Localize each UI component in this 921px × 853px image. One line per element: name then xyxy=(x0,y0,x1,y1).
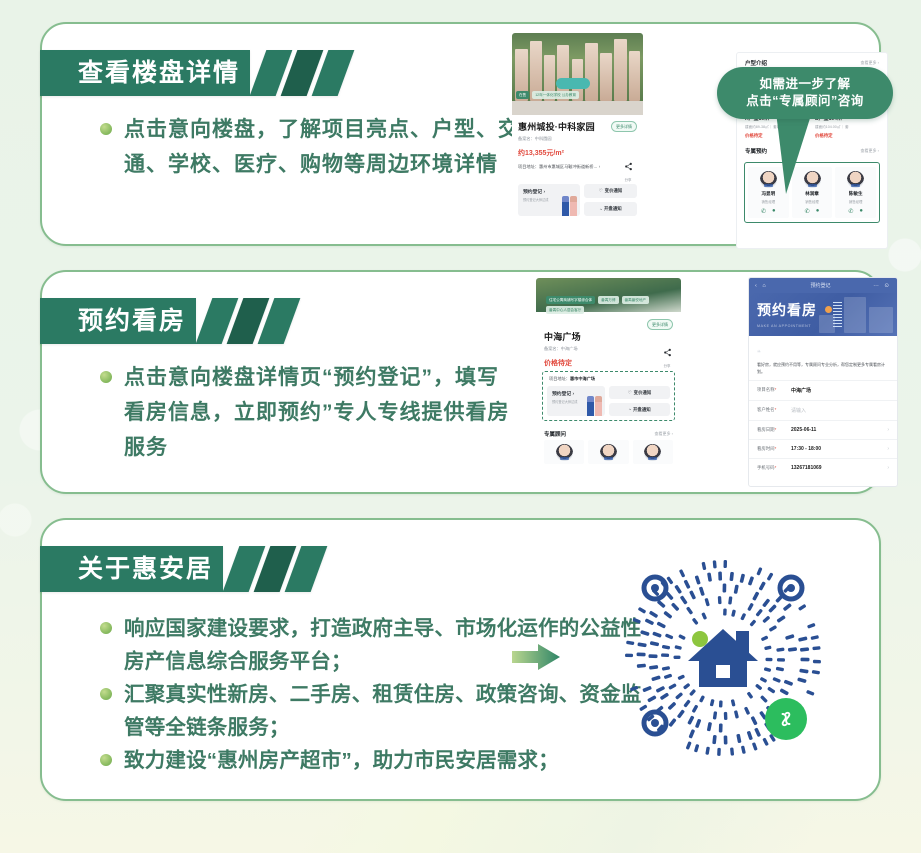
floorplan-price: 价格待定 xyxy=(815,133,879,139)
share-label: 分享 xyxy=(662,363,672,368)
advisor-section-header: 专属顾问 查看更多 › xyxy=(536,421,681,440)
mini-program-icon xyxy=(774,707,798,731)
card-banner: 查看楼盘详情 xyxy=(40,50,346,96)
quote-text: 看好房，就应预约不用等，专属顾问专业分析，帮您定制更多专属看房计划。 xyxy=(757,362,889,376)
banner-body: 查看楼盘详情 xyxy=(40,50,250,96)
list-item[interactable] xyxy=(544,440,584,464)
clock-icon: ◔ xyxy=(628,407,631,412)
card-book-viewing: 预约看房 点击意向楼盘详情页“预约登记”，填写看房信息，立即预约”专人专线提供看… xyxy=(40,270,881,494)
bullet-text: 点击意向楼盘详情页“预约登记”，填写看房信息，立即预约”专人专线提供看房服务 xyxy=(124,360,520,465)
list-item: 点击意向楼盘，了解项目亮点、户型、交通、学校、医疗、购物等周边环境详情 xyxy=(100,112,520,182)
advisor-name: 冯显明 xyxy=(761,191,775,197)
field-phone-number[interactable]: 手机号码* 13267181069 › xyxy=(749,458,897,477)
hero-dot-accent xyxy=(825,306,832,313)
listing-price: 约13,355元/m² xyxy=(518,148,637,158)
advisor-role: 销售经理 xyxy=(762,199,776,204)
section-more-link[interactable]: 查看更多 › xyxy=(655,431,673,437)
appointment-register-button[interactable]: 预约登记 › 预约登记大师达成 xyxy=(547,386,605,416)
bullet-dot-icon xyxy=(100,371,112,383)
listing-price: 价格待定 xyxy=(544,358,673,368)
section-title: 户型介绍 xyxy=(745,59,767,67)
callout-line-2: 点击“专属顾问”咨询 xyxy=(746,93,864,110)
menu-capsule-icon[interactable]: ⋯ ⊙ xyxy=(873,283,891,289)
listing-tag-row: 住宅公寓商铺写字楼综合体 番禺万博 番禺番悦地产 番禺中心人居会客厅 xyxy=(546,296,672,316)
avatar xyxy=(760,171,777,188)
listing-screenshot: 在售 12年一体化学校 公办教育 惠州城投·中科家园 备案名：中科園园 约13,… xyxy=(512,33,643,239)
card-view-property-details: 查看楼盘详情 点击意向楼盘，了解项目亮点、户型、交通、学校、医疗、购物等周边环境… xyxy=(40,22,881,246)
field-value: 中海广场 xyxy=(791,387,889,394)
feature-badge: 番禺中心人居会客厅 xyxy=(546,306,584,314)
share-button[interactable]: 分享 xyxy=(623,158,633,182)
appointment-register-button[interactable]: 预约登记 › 预约登记大师达成 xyxy=(518,184,580,216)
app-nav-bar: ‹ ⌂ 预约登记 ⋯ ⊙ xyxy=(749,278,897,293)
share-icon xyxy=(663,348,672,357)
phone-icon[interactable]: ✆ xyxy=(848,208,853,215)
advisor-role: 销售经理 xyxy=(805,199,819,204)
opening-notify-button[interactable]: ◔ 开盘通知 xyxy=(584,202,637,216)
callout-pointer xyxy=(776,112,812,194)
advisor-role: 销售经理 xyxy=(849,199,863,204)
nav-title: 预约登记 xyxy=(811,282,831,289)
flow-arrow-icon xyxy=(510,641,562,673)
listing-action-row: 预约登记 › 预约登记大师达成 ♡ 变价通知 ◔ 开盘通知 xyxy=(512,184,643,216)
listing-hero-photo: 在售 12年一体化学校 公办教育 xyxy=(512,33,643,115)
page-root: 查看楼盘详情 点击意向楼盘，了解项目亮点、户型、交通、学校、医疗、购物等周边环境… xyxy=(0,0,921,853)
share-button[interactable]: 分享 xyxy=(662,344,672,368)
status-badge: 在售 xyxy=(516,91,529,99)
clock-icon: ◔ xyxy=(599,207,602,212)
bullet-text: 致力建设“惠州房产超市”，助力市民安居需求； xyxy=(124,744,559,777)
price-change-notify-button[interactable]: ♡ 变价通知 xyxy=(584,184,637,198)
phone-icon[interactable]: ✆ xyxy=(761,208,766,215)
advisor-actions: ✆● xyxy=(761,208,776,215)
more-details-badge[interactable]: 更多详情 xyxy=(611,121,637,132)
advisor-name: 陈敏生 xyxy=(849,191,863,197)
advisor-actions: ✆● xyxy=(805,208,820,215)
avatar xyxy=(556,444,573,461)
chevron-right-icon: › xyxy=(887,427,889,433)
card-banner: 预约看房 xyxy=(40,298,292,344)
field-value: 13267181069 xyxy=(791,465,887,471)
avatar xyxy=(644,444,661,461)
back-home-icon[interactable]: ‹ ⌂ xyxy=(755,283,768,289)
listing-title: 中海广场 xyxy=(544,330,673,343)
listing-alias: 备案名：中科園园 xyxy=(518,136,637,142)
feature-badge: 番禺万博 xyxy=(598,296,618,304)
chat-icon[interactable]: ● xyxy=(816,208,820,215)
chevron-right-icon: › xyxy=(887,446,889,452)
hero-tower-graphic xyxy=(833,302,842,328)
list-item[interactable] xyxy=(588,440,628,464)
listing-address: 项目地址：惠市中海广场 xyxy=(549,376,670,382)
bullet-text: 响应国家建设要求，打造政府主导、市场化运作的公益性房产信息综合服务平台； xyxy=(124,612,660,678)
more-details-badge[interactable]: 更多详情 xyxy=(647,319,673,330)
list-item: 汇聚真实性新房、二手房、租赁住房、政策咨询、资金监管等全链条服务； xyxy=(100,678,660,744)
callout-bubble: 如需进一步了解 点击“专属顾问”咨询 xyxy=(717,67,893,119)
chevron-right-icon: › xyxy=(887,465,889,471)
share-icon xyxy=(624,162,633,171)
bullet-text: 汇聚真实性新房、二手房、租赁住房、政策咨询、资金监管等全链条服务； xyxy=(124,678,660,744)
field-value: 2025-06-11 xyxy=(791,427,887,433)
chat-icon[interactable]: ● xyxy=(772,208,776,215)
avatar xyxy=(600,444,617,461)
list-item: 响应国家建设要求，打造政府主导、市场化运作的公益性房产信息综合服务平台； xyxy=(100,612,660,678)
section-title: 专属预约 xyxy=(745,147,767,155)
card-about-huianju: 关于惠安居 响应国家建设要求，打造政府主导、市场化运作的公益性房产信息综合服务平… xyxy=(40,518,881,801)
field-visit-time[interactable]: 看房时间* 17:30 - 18:00 › xyxy=(749,439,897,458)
qr-code[interactable] xyxy=(623,558,823,758)
booking-quote: ❝ 看好房，就应预约不用等，专属顾问专业分析，帮您定制更多专属看房计划。 xyxy=(749,336,897,380)
advisor-list xyxy=(536,440,681,464)
hero-pool xyxy=(556,78,590,89)
booking-hero: 预约看房 MAKE AN APPOINTMENT xyxy=(749,293,897,336)
plaza-listing-screenshot: 住宅公寓商铺写字楼综合体 番禺万博 番禺番悦地产 番禺中心人居会客厅 中海广场 … xyxy=(536,278,681,485)
card-bullet-list: 点击意向楼盘详情页“预约登记”，填写看房信息，立即预约”专人专线提供看房服务 xyxy=(100,360,520,469)
listing-alias: 备案名：中海广场 xyxy=(544,346,673,352)
card-bullet-list: 响应国家建设要求，打造政府主导、市场化运作的公益性房产信息综合服务平台； 汇聚真… xyxy=(100,612,660,777)
section-more-link[interactable]: 查看更多 › xyxy=(861,60,879,66)
bullet-dot-icon xyxy=(100,622,112,634)
hero-road xyxy=(512,101,643,115)
illustration-people xyxy=(587,396,602,416)
feature-badge: 12年一体化学校 公办教育 xyxy=(532,91,579,99)
field-customer-name[interactable]: 客户姓名* 请输入 xyxy=(749,400,897,420)
quote-mark-icon: ❝ xyxy=(757,350,761,357)
banner-body: 预约看房 xyxy=(40,298,196,344)
field-visit-date[interactable]: 看房日期* 2025-06-11 › xyxy=(749,420,897,439)
share-label: 分享 xyxy=(623,177,633,182)
bell-icon: ♡ xyxy=(599,188,603,194)
advisor-actions: ✆● xyxy=(848,208,863,215)
list-item[interactable]: 陈敏生 销售经理 ✆● xyxy=(835,167,876,218)
listing-address: 项目地址：惠州市惠城区马鞍冲街道新桥… › xyxy=(518,164,637,170)
advisor-highlight-box: 冯显明 销售经理 ✆● 林润章 销售经理 ✆● 陈敏生 xyxy=(744,162,880,223)
bullet-dot-icon xyxy=(100,688,112,700)
bullet-dot-icon xyxy=(100,754,112,766)
section-title: 专属顾问 xyxy=(544,430,566,438)
bullet-dot-icon xyxy=(100,123,112,135)
feature-badge: 住宅公寓商铺写字楼综合体 xyxy=(546,296,595,304)
field-project-name[interactable]: 项目名称* 中海广场 xyxy=(749,380,897,400)
list-item[interactable] xyxy=(633,440,673,464)
card-title: 预约看房 xyxy=(78,309,186,334)
field-placeholder: 请输入 xyxy=(791,407,889,414)
house-logo-icon xyxy=(684,623,762,693)
feature-badge: 番禺番悦地产 xyxy=(622,296,650,304)
opening-notify-button[interactable]: ◔ 开盘通知 xyxy=(609,403,670,416)
card-bullet-list: 点击意向楼盘，了解项目亮点、户型、交通、学校、医疗、购物等周边环境详情 xyxy=(100,112,520,186)
card-title: 关于惠安居 xyxy=(78,557,213,582)
list-item: 致力建设“惠州房产超市”，助力市民安居需求； xyxy=(100,744,660,777)
card-title: 查看楼盘详情 xyxy=(78,61,240,86)
floorplan-spec: 建面约104.00㎡｜ 套 xyxy=(815,125,879,130)
price-change-notify-button[interactable]: ♡ 变价通知 xyxy=(609,386,670,399)
card-banner: 关于惠安居 xyxy=(40,546,319,592)
chat-icon[interactable]: ● xyxy=(859,208,863,215)
booking-form-screenshot: ‹ ⌂ 预约登记 ⋯ ⊙ 预约看房 MAKE AN APPOINTMENT ❝ … xyxy=(748,277,898,487)
listing-tag-row: 在售 12年一体化学校 公办教育 xyxy=(516,91,579,99)
list-item: 点击意向楼盘详情页“预约登记”，填写看房信息，立即预约”专人专线提供看房服务 xyxy=(100,360,520,465)
banner-body: 关于惠安居 xyxy=(40,546,223,592)
wechat-mini-program-badge xyxy=(765,698,807,740)
field-value: 17:30 - 18:00 xyxy=(791,446,887,452)
bell-icon: ♡ xyxy=(628,390,632,396)
register-highlight-box: 项目地址：惠市中海广场 预约登记 › 预约登记大师达成 ♡ 变价通知 xyxy=(542,371,675,421)
advisor-section-header: 专属预约 查看更多 › xyxy=(737,139,887,158)
phone-icon[interactable]: ✆ xyxy=(805,208,810,215)
illustration-people xyxy=(562,196,577,216)
bullet-text: 点击意向楼盘，了解项目亮点、户型、交通、学校、医疗、购物等周边环境详情 xyxy=(124,112,520,182)
callout-line-1: 如需进一步了解 xyxy=(759,76,850,93)
avatar xyxy=(847,171,864,188)
section-more-link[interactable]: 查看更多 › xyxy=(861,148,879,154)
